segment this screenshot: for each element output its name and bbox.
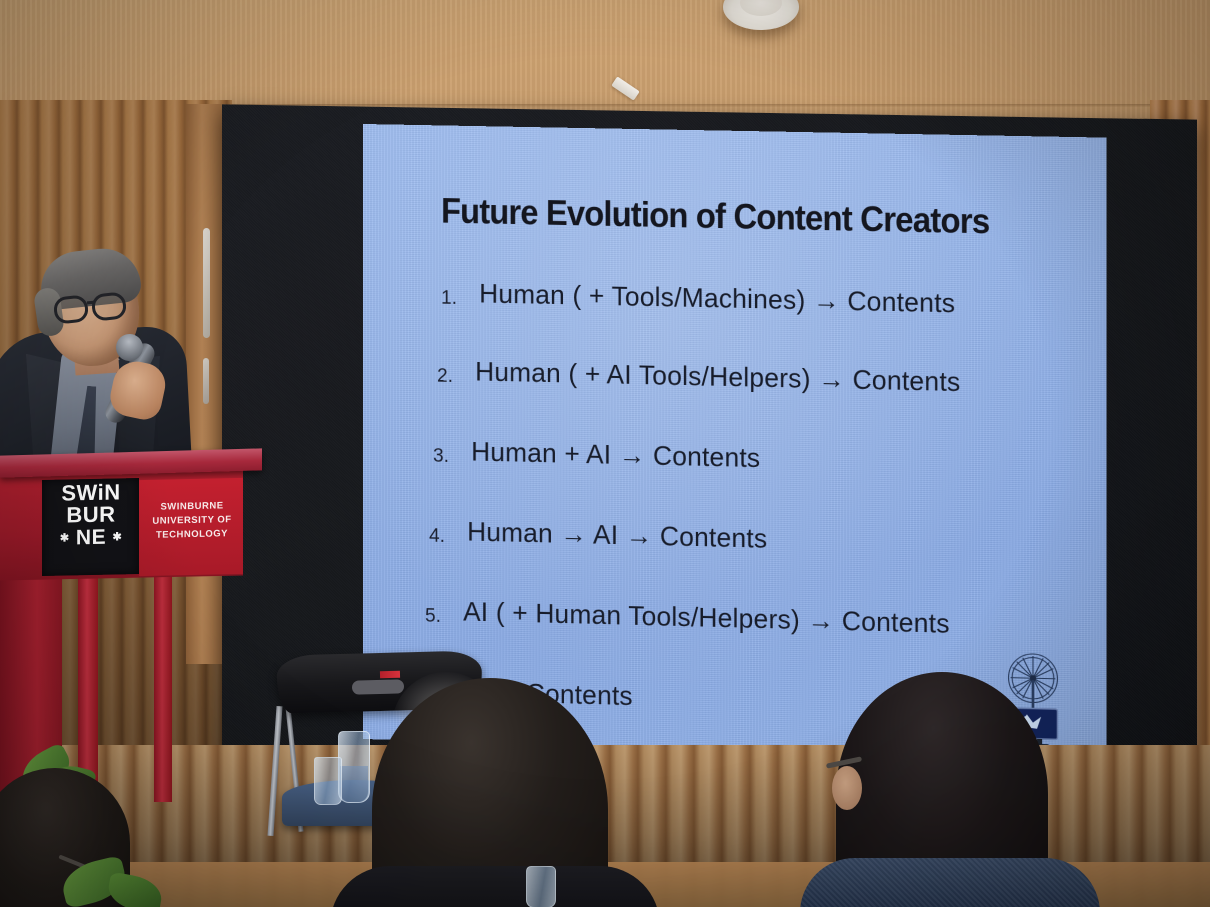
brandmark-line-3-wrap: ✱ NE ✱: [48, 526, 134, 549]
slide-title: Future Evolution of Content Creators: [441, 192, 1004, 243]
list-item-text: Human + AI → Contents: [471, 436, 760, 474]
university-line-2: UNIVERSITY OF: [146, 513, 238, 529]
door-handle-lower-icon: [203, 358, 209, 404]
brandmark-star-right: ✱: [112, 531, 122, 543]
list-item-text: Human → AI → Contents: [467, 516, 767, 554]
list-item-text: Human ( + Tools/Machines) → Contents: [479, 278, 955, 319]
presentation-photo: Future Evolution of Content Creators 1. …: [0, 0, 1210, 907]
lectern-university-text: SWINBURNE UNIVERSITY OF TECHNOLOGY: [146, 499, 238, 542]
brandmark-line-2: BUR: [48, 504, 134, 528]
swinburne-brandmark: SWiN BUR ✱ NE ✱: [48, 481, 134, 575]
chair-handle-slot: [352, 679, 404, 694]
list-item-number: 1.: [441, 288, 457, 310]
drinking-glass: [314, 757, 342, 805]
list-item-number: 2.: [437, 366, 453, 388]
list-item-number: 3.: [433, 446, 449, 468]
list-item-number: 4.: [429, 526, 445, 548]
lectern-leg: [154, 572, 172, 802]
door-handle-icon: [203, 228, 210, 338]
audience-right-ear: [832, 766, 862, 810]
brandmark-star-left: ✱: [60, 532, 70, 544]
audience-right-shirt: [800, 858, 1100, 907]
chair-label-sticker: [380, 671, 400, 679]
brandmark-line-3: NE: [76, 526, 106, 550]
carafe-water-level: [340, 766, 368, 802]
list-item-text: Human ( + AI Tools/Helpers) → Contents: [475, 356, 960, 398]
university-line-3: TECHNOLOGY: [146, 527, 238, 543]
audience-center-shoulders: [330, 866, 660, 907]
list-item-number: 5.: [425, 606, 441, 628]
water-bottle: [526, 866, 556, 907]
